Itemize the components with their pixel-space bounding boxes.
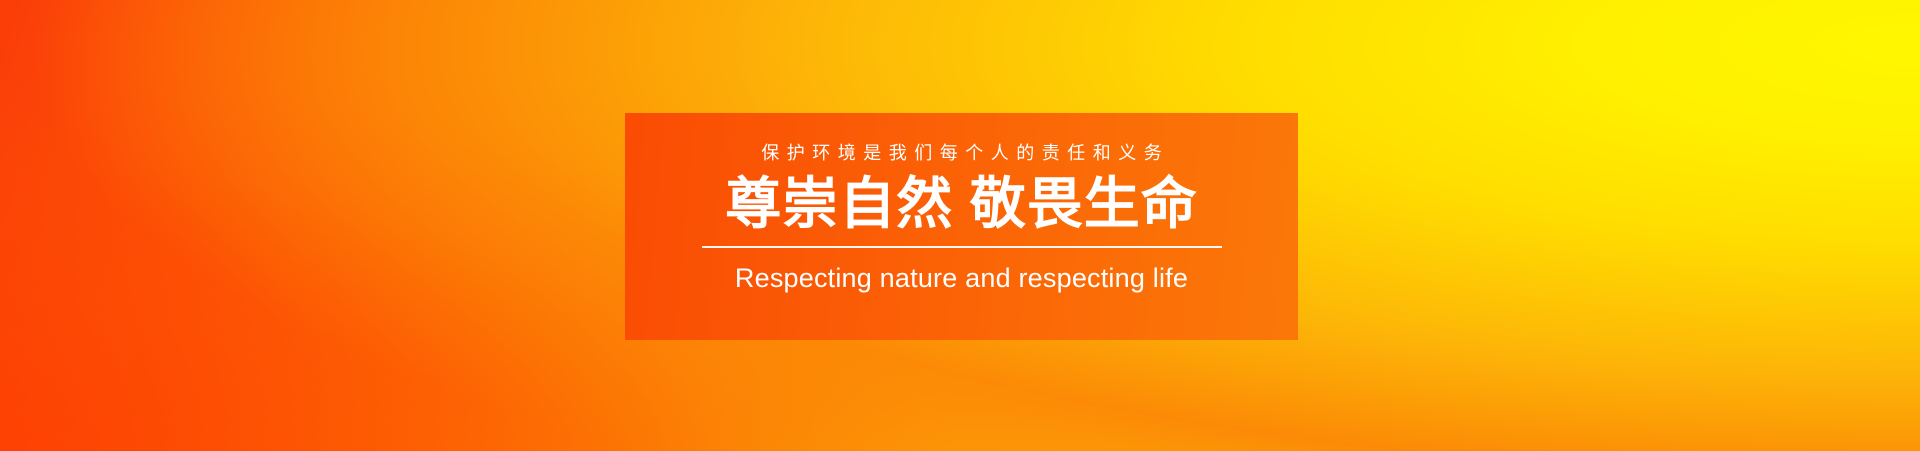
- banner-headline: 尊崇自然 敬畏生命: [725, 175, 1198, 232]
- headline-divider: [702, 246, 1222, 248]
- environment-slogan-banner: 保护环境是我们每个人的责任和义务 尊崇自然 敬畏生命 Respecting na…: [0, 0, 1920, 451]
- slogan-panel: 保护环境是我们每个人的责任和义务 尊崇自然 敬畏生命 Respecting na…: [625, 113, 1298, 340]
- banner-english-subline: Respecting nature and respecting life: [735, 265, 1188, 292]
- banner-kicker-text: 保护环境是我们每个人的责任和义务: [754, 144, 1170, 162]
